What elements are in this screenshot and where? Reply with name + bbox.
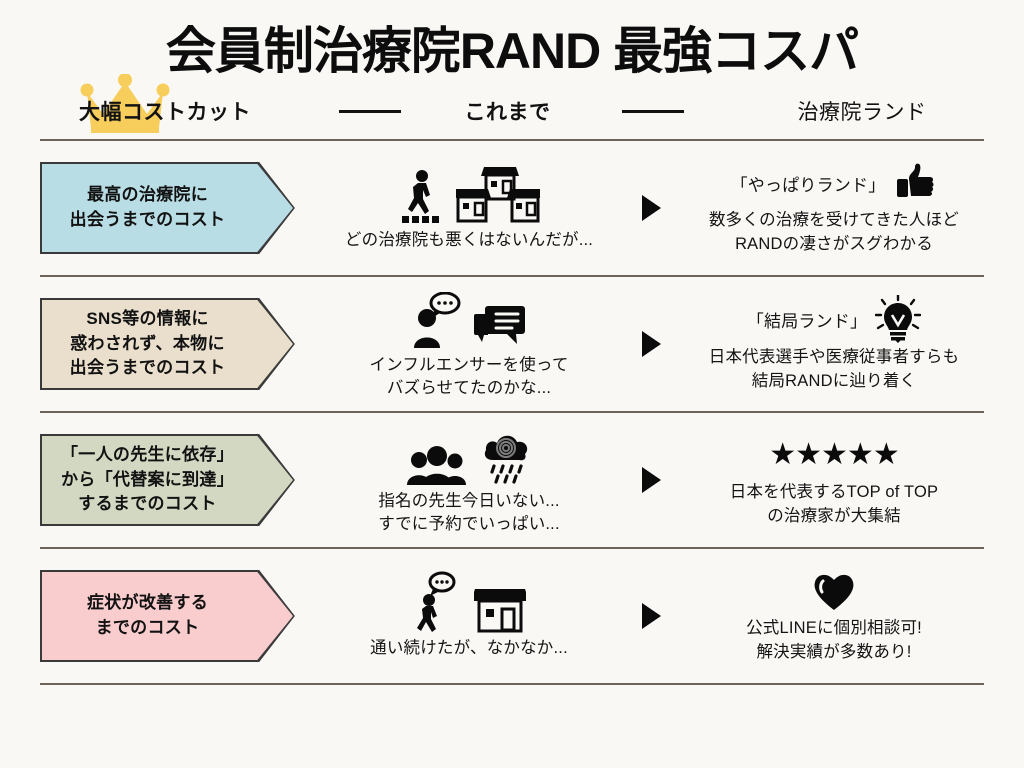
before-cell: 通い続けたが、なかなか... (326, 571, 618, 660)
row-banner-cell: 症状が改善する までのコスト (40, 570, 326, 662)
walking-person-speech-bubble-icon (412, 571, 462, 633)
title-section: 会員制治療院RAND 最強コスパ (0, 0, 1024, 83)
column-header-before: これまで (410, 83, 605, 139)
header-divider-2 (605, 83, 700, 139)
table-row: SNS等の情報に 惑わされず、本物に 出会うまでのコスト (40, 277, 984, 411)
before-icon-group (412, 288, 526, 350)
table-row: 「一人の先生に依存」 から「代替案に到達」 するまでのコスト (40, 413, 984, 547)
three-shops-icon (456, 163, 540, 225)
cost-cut-label: 大幅コストカット (79, 101, 251, 124)
cost-banner: SNS等の情報に 惑わされず、本物に 出会うまでのコスト (40, 298, 295, 390)
row-arrow (618, 467, 684, 493)
after-headline: ★★★★★ (769, 432, 898, 478)
page-title: 会員制治療院RAND 最強コスパ (0, 24, 1024, 79)
horizontal-dash-icon (339, 110, 401, 113)
heart-icon (812, 570, 856, 612)
row-divider (40, 683, 984, 685)
row-banner-cell: 最高の治療院に 出会うまでのコスト (40, 162, 326, 254)
column-header-row: 大幅コストカット これまで 治療院ランド (0, 83, 1024, 139)
cost-banner: 症状が改善する までのコスト (40, 570, 295, 662)
arrow-right-icon (642, 195, 661, 221)
walking-person-crosswalk-icon (398, 169, 444, 225)
after-caption: 日本を代表するTOP of TOP の治療家が大集結 (730, 481, 938, 527)
after-cell: 「やっぱりランド」 数多くの治療を受けてきた人ほど RANDの凄さがスグわかる (684, 160, 984, 255)
cost-banner-label: SNS等の情報に 惑わされず、本物に 出会うまでのコスト (70, 307, 226, 381)
before-cell: インフルエンサーを使って バズらせてたのかな... (326, 288, 618, 400)
after-caption: 数多くの治療を受けてきた人ほど RANDの凄さがスグわかる (709, 209, 959, 255)
column-header-after: 治療院ランド (700, 83, 1024, 139)
cost-cut-badge: 大幅コストカット (73, 96, 257, 126)
shop-icon (474, 583, 526, 633)
rain-cloud-icon (481, 430, 531, 486)
after-cell: ★★★★★ 日本を代表するTOP of TOP の治療家が大集結 (684, 432, 984, 527)
header-divider-1 (330, 83, 410, 139)
table-row: 最高の治療院に 出会うまでのコスト (40, 141, 984, 275)
after-caption: 公式LINEに個別相談可! 解決実績が多数あり! (746, 617, 922, 663)
row-arrow (618, 195, 684, 221)
thumbs-up-icon (893, 161, 937, 205)
column-header-left: 大幅コストカット (0, 83, 330, 139)
before-cell: どの治療院も悪くはないんだが... (326, 163, 618, 252)
row-banner-cell: SNS等の情報に 惑わされず、本物に 出会うまでのコスト (40, 298, 326, 390)
arrow-right-icon (642, 603, 661, 629)
cost-banner-label: 「一人の先生に依存」 から「代替案に到達」 するまでのコスト (61, 443, 234, 517)
cost-banner-label: 症状が改善する までのコスト (87, 591, 208, 640)
cost-banner: 最高の治療院に 出会うまでのコスト (40, 162, 295, 254)
after-cell: 公式LINEに個別相談可! 解決実績が多数あり! (684, 568, 984, 663)
horizontal-dash-icon (622, 110, 684, 113)
five-stars-icon: ★★★★★ (769, 440, 898, 470)
after-quote-label: 「やっぱりランド」 (731, 171, 886, 196)
before-caption: インフルエンサーを使って バズらせてたのかな... (369, 354, 568, 400)
before-caption: 指名の先生今日いない... すでに予約でいっぱい... (378, 490, 560, 536)
group-of-people-icon (407, 446, 469, 486)
after-headline (812, 568, 856, 614)
person-speech-bubble-icon (412, 292, 462, 350)
chat-bubbles-icon (474, 302, 526, 350)
arrow-right-icon (642, 467, 661, 493)
lightbulb-icon (875, 295, 921, 343)
arrow-right-icon (642, 331, 661, 357)
column-header-after-label: 治療院ランド (798, 96, 927, 126)
before-icon-group (407, 424, 531, 486)
row-arrow (618, 331, 684, 357)
after-headline: 「やっぱりランド」 (731, 160, 938, 206)
after-caption: 日本代表選手や医療従事者すらも 結局RANDに辿り着く (709, 346, 960, 392)
after-headline: 「結局ランド」 (747, 295, 921, 343)
cost-banner-label: 最高の治療院に 出会うまでのコスト (70, 183, 226, 232)
row-arrow (618, 603, 684, 629)
comparison-table: 最高の治療院に 出会うまでのコスト (0, 139, 1024, 685)
cost-banner: 「一人の先生に依存」 から「代替案に到達」 するまでのコスト (40, 434, 295, 526)
before-cell: 指名の先生今日いない... すでに予約でいっぱい... (326, 424, 618, 536)
before-caption: どの治療院も悪くはないんだが... (345, 229, 593, 252)
row-banner-cell: 「一人の先生に依存」 から「代替案に到達」 するまでのコスト (40, 434, 326, 526)
after-quote-label: 「結局ランド」 (747, 307, 867, 332)
before-caption: 通い続けたが、なかなか... (370, 637, 568, 660)
table-row: 症状が改善する までのコスト (40, 549, 984, 683)
after-cell: 「結局ランド」 (684, 295, 984, 392)
before-icon-group (398, 163, 540, 225)
before-icon-group (412, 571, 526, 633)
column-header-before-label: これまで (465, 96, 551, 126)
